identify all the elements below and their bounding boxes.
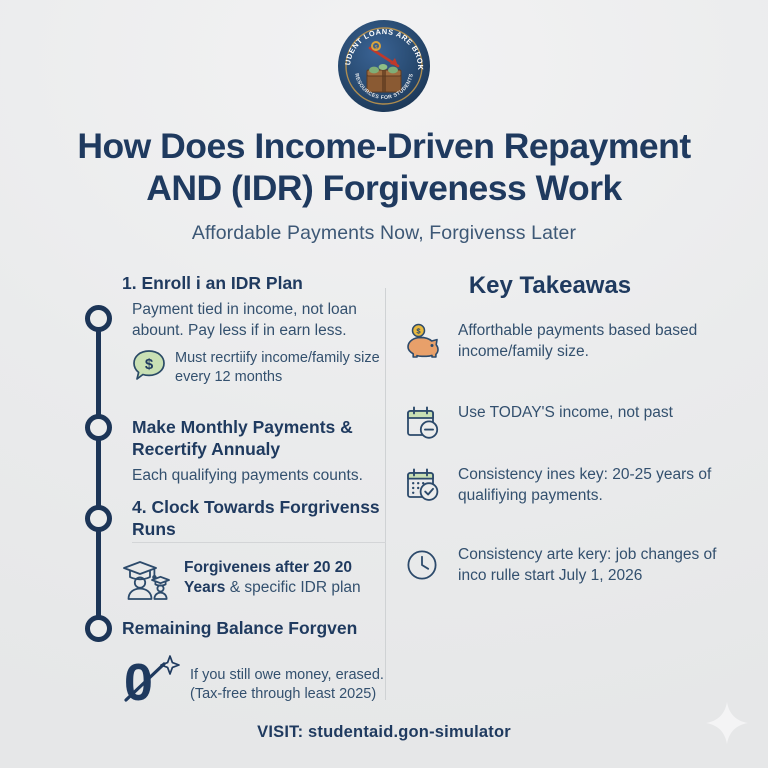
timeline-step-3: 4. Clock Towards Forgrivenss Runs xyxy=(132,496,386,540)
piggy-bank-icon: $ xyxy=(404,320,442,365)
takeaway-item-4: Consistency arte kery: job changes of in… xyxy=(404,544,724,589)
timeline-dot-3 xyxy=(85,505,112,532)
step-3-title: 4. Clock Towards Forgrivenss Runs xyxy=(132,496,386,540)
dollar-speech-bubble-icon: $ xyxy=(132,349,166,386)
zero-slash-sparkle-icon: 0 xyxy=(120,650,182,713)
step-1-subtext: Must recrtiify income/family size every … xyxy=(175,349,386,387)
takeaway-2-text: Use TODAY'S income, not past xyxy=(458,402,673,423)
calendar-check-icon xyxy=(404,464,442,509)
infographic-poster: $ STUDENT LOANS ARE BROKE RESOURCES FOR … xyxy=(0,0,768,768)
title-line-2: AND (IDR) Forgiveness Work xyxy=(0,168,768,210)
step-1-subitem: $ Must recrtiify income/family size ever… xyxy=(132,349,386,387)
balance-forgiven-text: If you still owe money, erased. (Tax-fre… xyxy=(190,650,384,704)
graduation-note-text: Forgiveneıs after 20 20 Years & specific… xyxy=(184,555,388,599)
brand-logo: $ STUDENT LOANS ARE BROKE RESOURCES FOR … xyxy=(336,18,432,114)
timeline-dot-2 xyxy=(85,414,112,441)
footer-visit-link[interactable]: VISIT: studentaid.gon-simulator xyxy=(0,723,768,742)
balance-forgiven-note: 0 If you still owe money, erased. (Tax-f… xyxy=(120,650,390,713)
step-1-title: 1. Enroll i an IDR Plan xyxy=(122,272,386,294)
page-subtitle: Affordable Payments Now, Forgivenss Late… xyxy=(0,222,768,245)
step-1-body: Payment tied in income, not loan abount.… xyxy=(132,300,386,341)
clock-icon xyxy=(404,544,442,589)
calendar-minus-icon xyxy=(404,402,442,447)
timeline-step-2: Make Monthly Payments & Recertify Annual… xyxy=(132,416,386,487)
timeline-axis xyxy=(96,306,101,642)
step-2-body: Each qualifying payments counts. xyxy=(132,466,386,487)
svg-text:$: $ xyxy=(375,45,378,51)
sparkle-decoration-icon xyxy=(704,700,750,746)
balance-forgiven-line-2: (Tax-free through least 2025) xyxy=(190,686,376,702)
balance-forgiven-line-1: If you still owe money, erased. xyxy=(190,667,384,683)
svg-text:$: $ xyxy=(145,356,154,373)
key-takeaways-heading: Key Takeawas xyxy=(404,272,696,300)
graduation-note: Forgiveneıs after 20 20 Years & specific… xyxy=(120,555,388,608)
logo-badge-icon: $ STUDENT LOANS ARE BROKE RESOURCES FOR … xyxy=(336,18,432,114)
graduation-note-rest: & specific IDR plan xyxy=(225,579,360,596)
takeaway-item-3: Consistency ines key: 20-25 years of qua… xyxy=(404,464,724,509)
timeline-dot-4 xyxy=(85,615,112,642)
takeaway-1-text: Afforthable payments based based income/… xyxy=(458,320,724,362)
takeaway-4-text: Consistency arte kery: job changes of in… xyxy=(458,544,724,586)
timeline-dot-1 xyxy=(85,305,112,332)
key-takeaways-column: Key Takeawas $ Afforthable payments base… xyxy=(404,272,724,300)
takeaway-item-1: $ Afforthable payments based based incom… xyxy=(404,320,724,365)
title-line-1: How Does Income-Driven Repayment xyxy=(0,126,768,168)
page-title: How Does Income-Driven Repayment AND (ID… xyxy=(0,126,768,245)
step-2-title: Make Monthly Payments & Recertify Annual… xyxy=(132,416,386,460)
timeline-step-4: Remaining Balance Forgven xyxy=(122,617,388,639)
section-divider xyxy=(132,542,386,543)
graduation-students-icon xyxy=(120,555,172,608)
timeline-step-1: 1. Enroll i an IDR Plan Payment tied in … xyxy=(122,272,386,387)
takeaway-3-text: Consistency ines key: 20-25 years of qua… xyxy=(458,464,724,506)
takeaway-item-2: Use TODAY'S income, not past xyxy=(404,402,724,447)
step-4-title: Remaining Balance Forgven xyxy=(122,617,388,639)
